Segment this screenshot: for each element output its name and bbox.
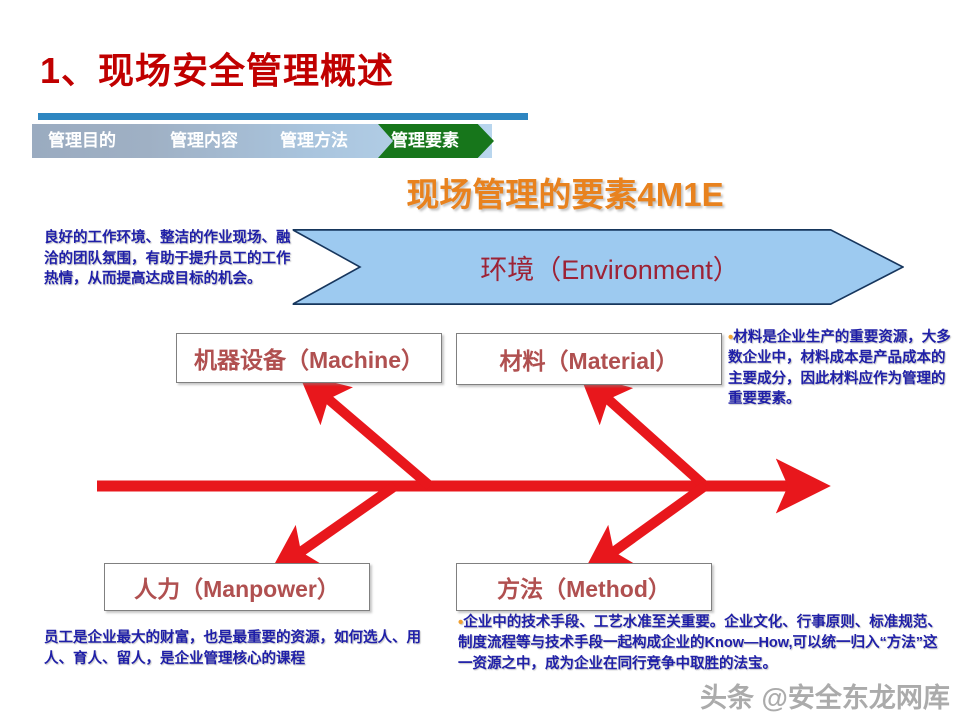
note-material-text: 材料是企业生产的重要资源，大多数企业中，材料成本是产品成本的主要成分，因此材料应… — [728, 329, 951, 407]
fishbone-branch-manpower — [292, 486, 395, 558]
nav-item-management-method[interactable]: 管理方法 — [280, 126, 348, 156]
section-heading: 现场管理的要素4M1E — [0, 168, 960, 216]
note-material: •材料是企业生产的重要资源，大多数企业中，材料成本是产品成本的主要成分，因此材料… — [728, 327, 953, 410]
fishbone-branch-method — [605, 486, 705, 558]
element-box-manpower[interactable]: 人力（Manpower） — [104, 563, 370, 611]
note-manpower-text: 员工是企业最大的财富，也是最重要的资源，如何选人、用人、育人、留人，是企业管理核… — [44, 630, 421, 667]
nav-item-management-purpose[interactable]: 管理目的 — [48, 126, 116, 156]
element-box-machine[interactable]: 机器设备（Machine） — [176, 333, 442, 383]
page-title: 1、现场安全管理概述 — [40, 42, 394, 94]
note-manpower: 员工是企业最大的财富，也是最重要的资源，如何选人、用人、育人、留人，是企业管理核… — [44, 628, 449, 669]
note-environment-text: 良好的工作环境、整洁的作业现场、融洽的团队氛围，有助于提升员工的工作热情，从而提… — [44, 230, 291, 287]
nav-top-accent-line — [38, 113, 528, 120]
note-method-text: 企业中的技术手段、工艺水准至关重要。企业文化、行事原则、标准规范、制度流程等与技… — [458, 614, 942, 671]
slide-canvas: 1、现场安全管理概述 管理目的 管理内容 管理方法 管理要素 现场管理的要素4M… — [0, 0, 960, 720]
nav-item-management-content[interactable]: 管理内容 — [170, 126, 238, 156]
nav-item-management-elements[interactable]: 管理要素 — [391, 126, 459, 156]
watermark: 头条 @安全东龙网库 — [700, 676, 950, 715]
note-environment: 良好的工作环境、整洁的作业现场、融洽的团队氛围，有助于提升员工的工作热情，从而提… — [44, 228, 294, 290]
environment-label: 环境（Environment） — [292, 229, 904, 305]
note-method: •企业中的技术手段、工艺水准至关重要。企业文化、行事原则、标准规范、制度流程等与… — [458, 612, 948, 674]
element-box-method[interactable]: 方法（Method） — [456, 563, 712, 611]
element-box-material[interactable]: 材料（Material） — [456, 333, 722, 385]
fishbone-branch-machine — [320, 392, 430, 486]
fishbone-branch-material — [600, 392, 705, 486]
